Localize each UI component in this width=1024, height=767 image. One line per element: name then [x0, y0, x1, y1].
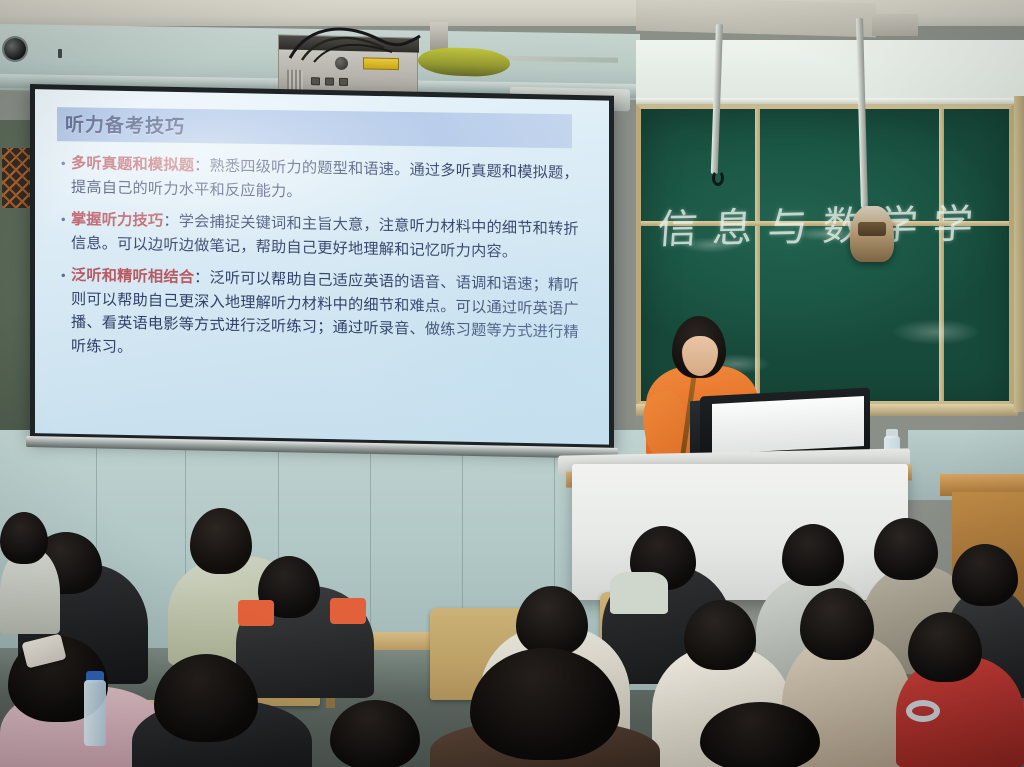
projector-cables — [280, 18, 430, 64]
bullet-marker: • — [61, 264, 71, 358]
bullet-text: 多听真题和模拟题：熟悉四级听力的题型和语速。通过多听真题和模拟题，提高自己的听力… — [71, 152, 587, 209]
hair-scrunchie — [906, 700, 940, 722]
bullet-keyword: 掌握听力技巧 — [71, 211, 163, 230]
monitor-screen — [712, 396, 864, 454]
blackboard-handwriting: 信息与数学学 — [656, 191, 1011, 255]
bullet-keyword: 多听真题和模拟题 — [71, 155, 194, 174]
slide-bullet-list: • 多听真题和模拟题：熟悉四级听力的题型和语速。通过多听真题和模拟题，提高自己的… — [61, 152, 587, 378]
hanging-bag — [850, 206, 894, 262]
ceiling-camera-icon — [4, 38, 26, 60]
lecture-hall-scene: 听力备考技巧 • 多听真题和模拟题：熟悉四级听力的题型和语速。通过多听真题和模拟… — [0, 0, 1024, 767]
bullet-separator: ： — [194, 157, 209, 174]
list-item: • 泛听和精听相结合：泛听可以帮助自己适应英语的语音、语调和语速；精听则可以帮助… — [61, 264, 587, 369]
list-item: • 掌握听力技巧：学会捕捉关键词和主旨大意，注意听力材料中的细节和转折信息。可以… — [61, 208, 587, 266]
blackboard-upper-wall — [636, 40, 1024, 102]
bullet-text: 掌握听力技巧：学会捕捉关键词和主旨大意，注意听力材料中的细节和转折信息。可以边听… — [71, 208, 587, 265]
bullet-separator: ： — [194, 269, 209, 286]
projector-mount — [430, 22, 448, 50]
slide-content: 听力备考技巧 • 多听真题和模拟题：熟悉四级听力的题型和语速。通过多听真题和模拟… — [35, 89, 609, 445]
water-bottle — [84, 680, 106, 746]
list-item: • 多听真题和模拟题：熟悉四级听力的题型和语速。通过多听真题和模拟题，提高自己的… — [61, 152, 587, 210]
bullet-marker: • — [61, 208, 71, 255]
bullet-keyword: 泛听和精听相结合 — [71, 267, 194, 286]
blackboard-right-column — [1014, 96, 1024, 412]
pole-hook-icon — [712, 170, 724, 186]
bullet-separator: ： — [163, 213, 178, 230]
bullet-marker: • — [61, 152, 71, 199]
projection-screen: 听力备考技巧 • 多听真题和模拟题：熟悉四级听力的题型和语速。通过多听真题和模拟… — [30, 84, 614, 450]
lattice-grille — [2, 148, 30, 208]
bullet-text: 泛听和精听相结合：泛听可以帮助自己适应英语的语音、语调和语速；精听则可以帮助自己… — [71, 264, 587, 368]
wall-screw — [58, 49, 62, 58]
